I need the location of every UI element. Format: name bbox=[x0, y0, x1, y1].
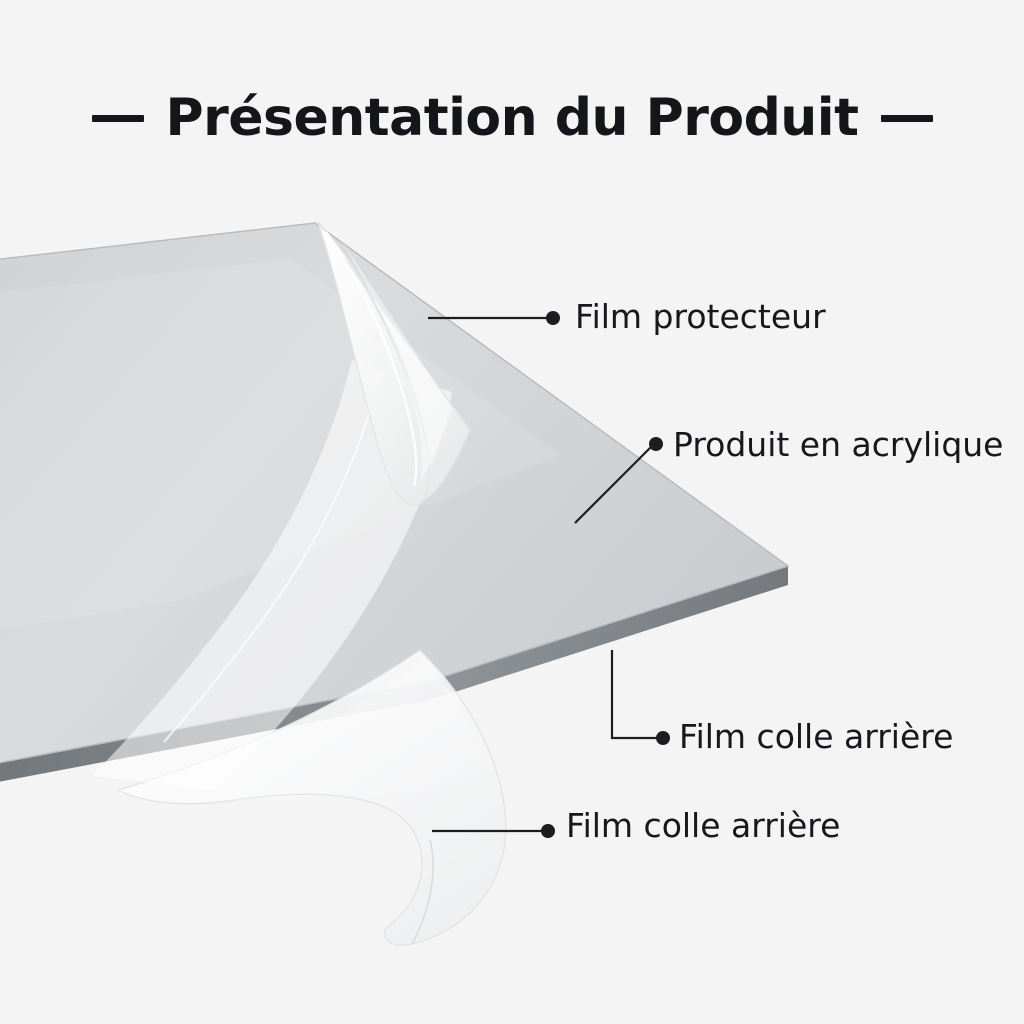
callout-label-produit-en-acrylique: Produit en acrylique bbox=[673, 428, 1003, 461]
dot-film-colle-arriere-1 bbox=[656, 731, 670, 745]
product-overview-diagram: Présentation du Produit bbox=[0, 0, 1024, 1024]
callout-label-film-colle-arriere-2: Film colle arrière bbox=[566, 809, 840, 842]
leader-film-colle-arriere-1 bbox=[612, 650, 661, 738]
dot-film-protecteur bbox=[546, 311, 560, 325]
callout-label-film-colle-arriere-1: Film colle arrière bbox=[679, 720, 953, 753]
acrylic-sheet-illustration bbox=[0, 0, 1024, 1024]
dot-film-colle-arriere-2 bbox=[541, 824, 555, 838]
callout-label-film-protecteur: Film protecteur bbox=[575, 300, 826, 333]
dot-produit-en-acrylique bbox=[649, 437, 663, 451]
